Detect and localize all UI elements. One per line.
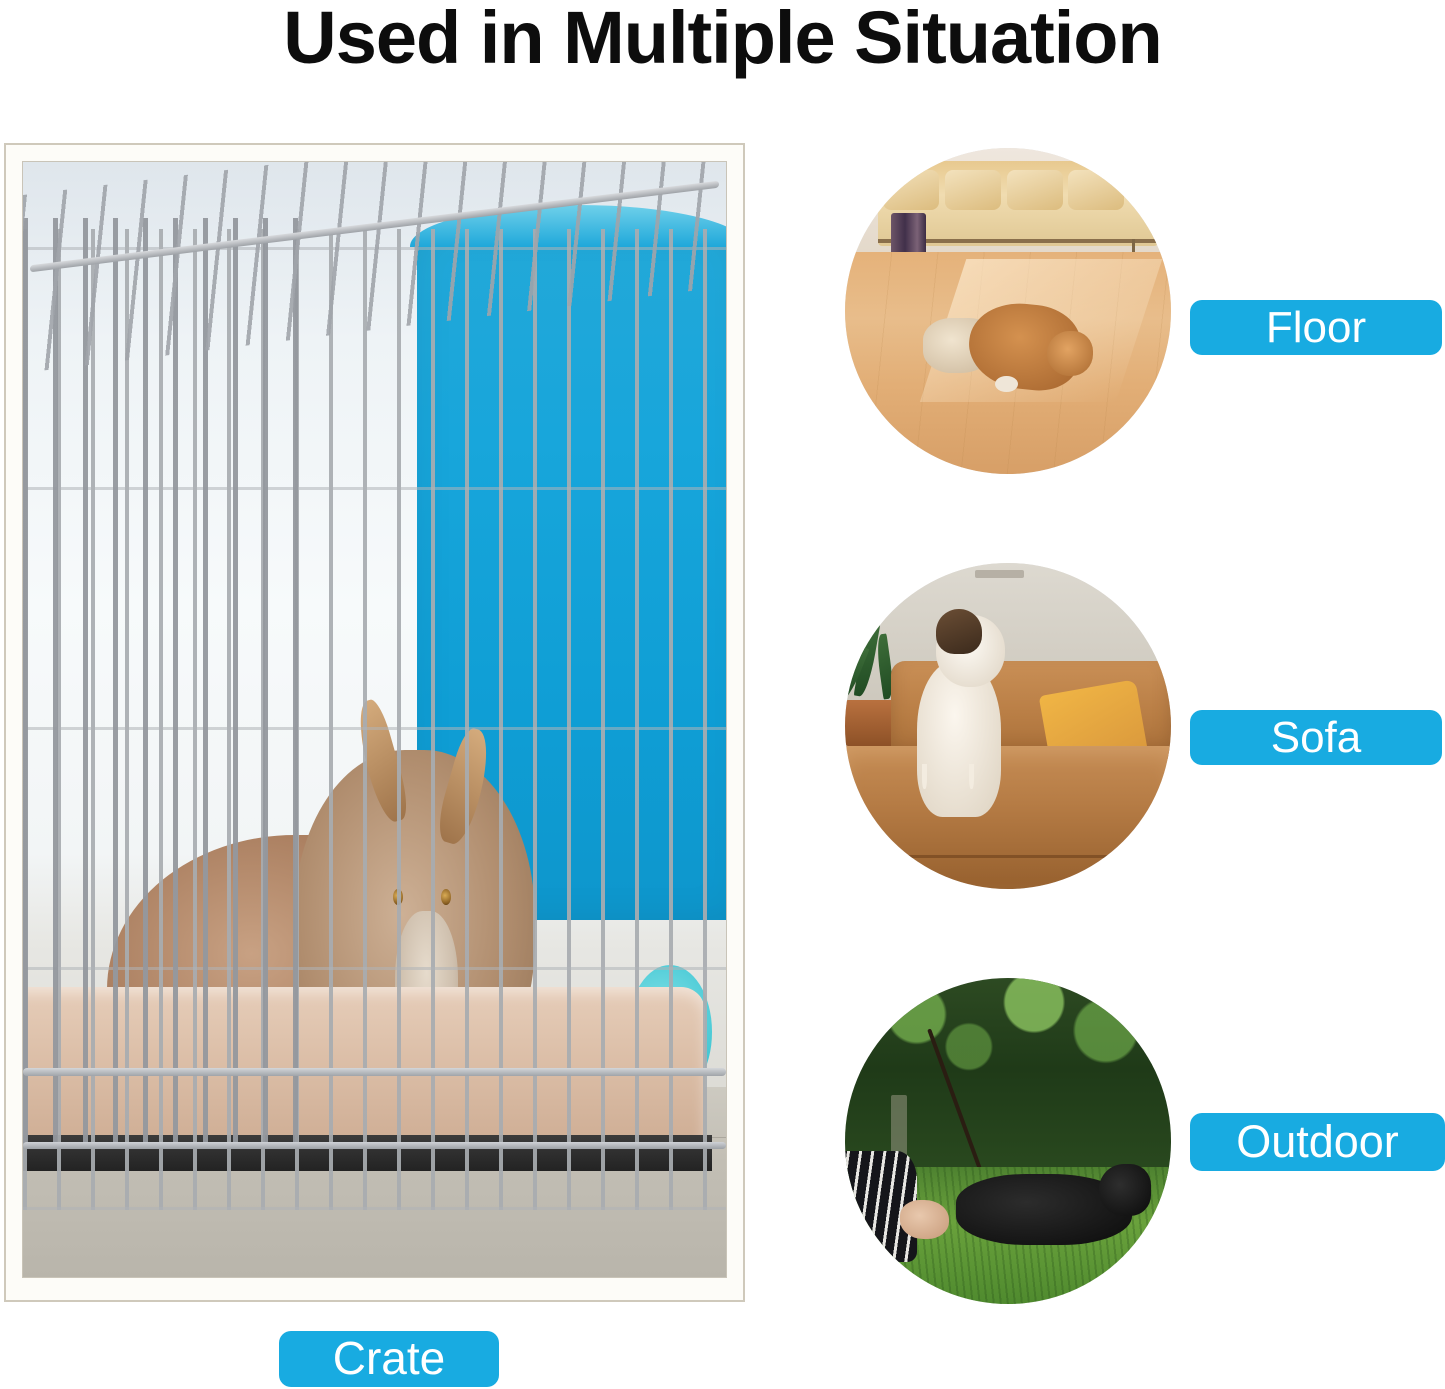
outdoor-scene-dog-head — [1099, 1164, 1151, 1216]
crate-tray — [22, 1135, 712, 1171]
page-title: Used in Multiple Situation — [0, 0, 1445, 80]
label-outdoor: Outdoor — [1190, 1113, 1445, 1171]
floor-sofa-cushion-2 — [945, 170, 1001, 211]
dog-eye-right — [441, 889, 451, 906]
crate-photo — [22, 161, 727, 1278]
sofa-dog-leg-right — [969, 764, 974, 789]
situation-sofa-image — [845, 563, 1171, 889]
main-photo-frame — [4, 143, 745, 1302]
sofa-scene-seat — [845, 746, 1171, 889]
situation-floor-image — [845, 148, 1171, 474]
sofa-dog-leg-left — [922, 764, 927, 789]
floor-sofa-cushion-3 — [1007, 170, 1063, 211]
outdoor-scene-person-hand — [900, 1200, 949, 1239]
sofa-scene-vent — [975, 570, 1024, 578]
sofa-seat-seam — [845, 855, 1171, 858]
crate-bed-mat — [22, 987, 705, 1143]
floor-sofa-cushion-1 — [883, 170, 939, 211]
label-floor: Floor — [1190, 300, 1442, 355]
situation-outdoor-image — [845, 978, 1171, 1304]
dog-ear-right — [433, 726, 498, 847]
label-sofa: Sofa — [1190, 710, 1442, 765]
label-crate: Crate — [279, 1331, 499, 1387]
floor-scene-dog-head — [1047, 331, 1093, 377]
sofa-scene-dog-hair — [936, 609, 982, 655]
floor-sofa-cushion-4 — [1068, 170, 1124, 211]
dog-eye-left — [393, 889, 403, 906]
